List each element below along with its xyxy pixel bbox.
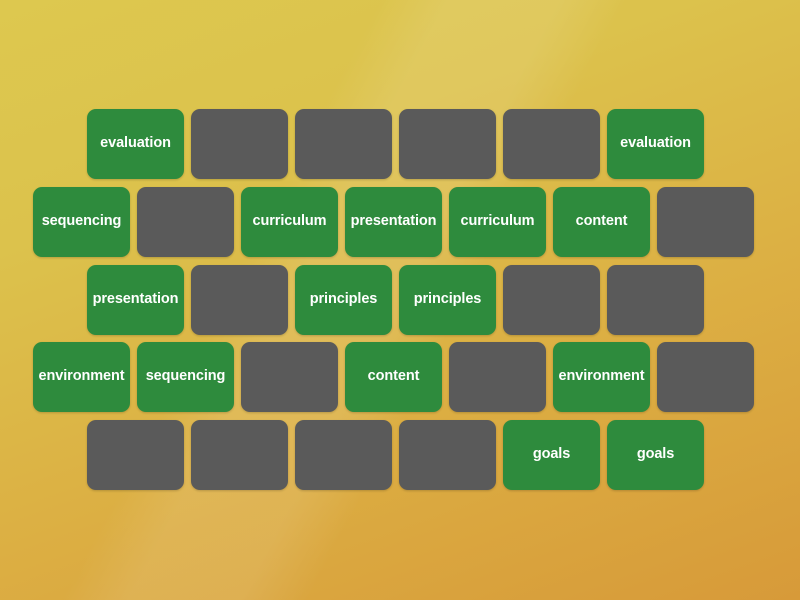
word-tile[interactable]: environment bbox=[553, 342, 650, 412]
word-tile[interactable]: principles bbox=[295, 265, 392, 335]
tile-label: curriculum bbox=[457, 214, 539, 229]
word-tile[interactable]: presentation bbox=[345, 187, 442, 257]
blank-tile[interactable] bbox=[657, 342, 754, 412]
blank-tile[interactable] bbox=[295, 420, 392, 490]
tile-label: presentation bbox=[347, 214, 441, 229]
word-tile[interactable]: curriculum bbox=[449, 187, 546, 257]
tile-label: goals bbox=[529, 447, 574, 462]
tile-label: principles bbox=[410, 292, 486, 307]
tile-label: goals bbox=[633, 447, 678, 462]
blank-tile[interactable] bbox=[399, 420, 496, 490]
word-tile[interactable]: goals bbox=[607, 420, 704, 490]
tile-row: goalsgoals bbox=[87, 420, 704, 490]
tile-row: presentationprinciplesprinciples bbox=[87, 265, 704, 335]
blank-tile[interactable] bbox=[191, 109, 288, 179]
word-tile[interactable]: sequencing bbox=[137, 342, 234, 412]
tile-row: environmentsequencingcontentenvironment bbox=[33, 342, 754, 412]
tile-label: principles bbox=[306, 292, 382, 307]
word-tile[interactable]: presentation bbox=[87, 265, 184, 335]
tile-label: curriculum bbox=[249, 214, 331, 229]
tile-row: sequencingcurriculumpresentationcurricul… bbox=[33, 187, 754, 257]
word-tile[interactable]: principles bbox=[399, 265, 496, 335]
word-tile[interactable]: goals bbox=[503, 420, 600, 490]
word-tile[interactable]: evaluation bbox=[607, 109, 704, 179]
word-tile[interactable]: content bbox=[553, 187, 650, 257]
tile-label: content bbox=[364, 369, 424, 384]
blank-tile[interactable] bbox=[137, 187, 234, 257]
tile-label: content bbox=[572, 214, 632, 229]
tile-row: evaluationevaluation bbox=[87, 109, 704, 179]
blank-tile[interactable] bbox=[657, 187, 754, 257]
word-tile[interactable]: curriculum bbox=[241, 187, 338, 257]
word-tile[interactable]: content bbox=[345, 342, 442, 412]
tile-label: sequencing bbox=[142, 369, 230, 384]
game-board: evaluationevaluationsequencingcurriculum… bbox=[0, 0, 800, 600]
tile-label: environment bbox=[35, 369, 129, 384]
tile-label: presentation bbox=[89, 292, 183, 307]
tile-label: environment bbox=[555, 369, 649, 384]
blank-tile[interactable] bbox=[191, 265, 288, 335]
blank-tile[interactable] bbox=[87, 420, 184, 490]
blank-tile[interactable] bbox=[241, 342, 338, 412]
blank-tile[interactable] bbox=[295, 109, 392, 179]
word-tile[interactable]: sequencing bbox=[33, 187, 130, 257]
blank-tile[interactable] bbox=[503, 265, 600, 335]
tile-label: sequencing bbox=[38, 214, 126, 229]
tile-grid: evaluationevaluationsequencingcurriculum… bbox=[0, 0, 800, 600]
blank-tile[interactable] bbox=[607, 265, 704, 335]
blank-tile[interactable] bbox=[191, 420, 288, 490]
tile-label: evaluation bbox=[96, 136, 175, 151]
tile-label: evaluation bbox=[616, 136, 695, 151]
blank-tile[interactable] bbox=[503, 109, 600, 179]
word-tile[interactable]: environment bbox=[33, 342, 130, 412]
word-tile[interactable]: evaluation bbox=[87, 109, 184, 179]
blank-tile[interactable] bbox=[449, 342, 546, 412]
blank-tile[interactable] bbox=[399, 109, 496, 179]
